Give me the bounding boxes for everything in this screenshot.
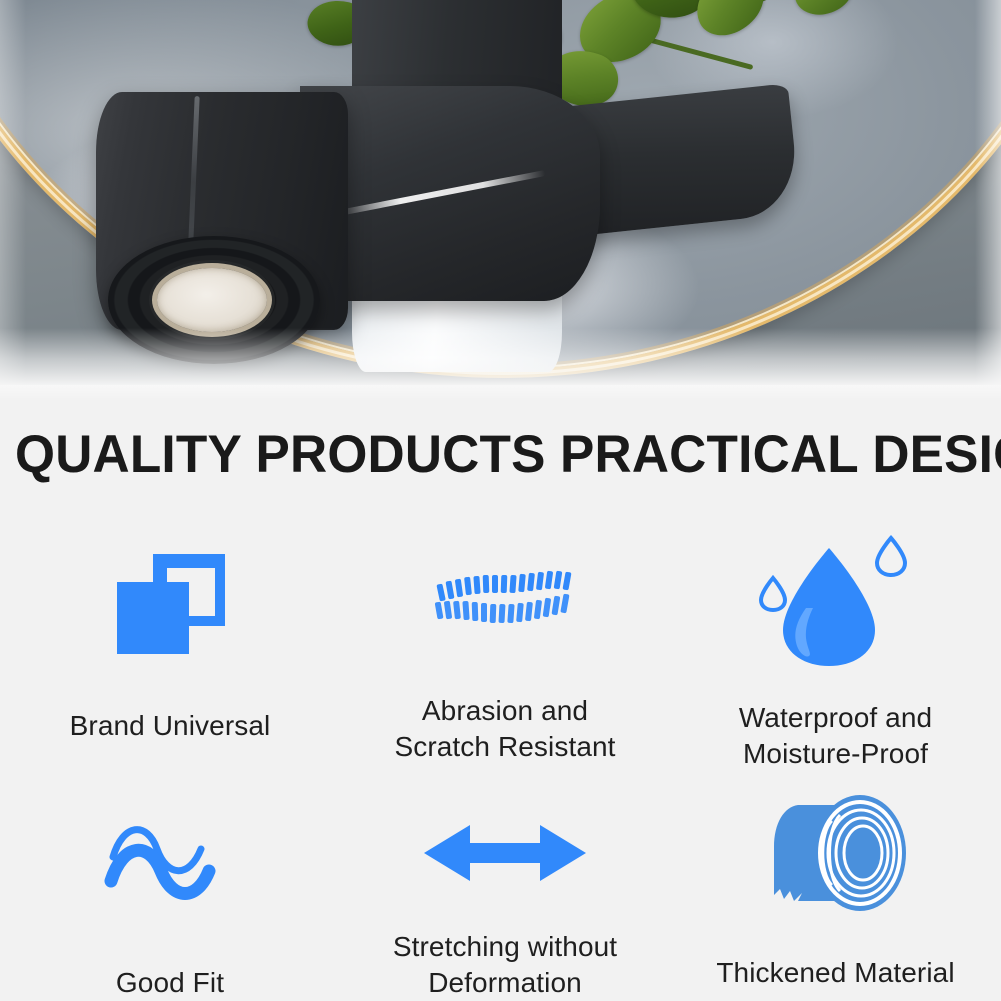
feature-brand-universal: Brand Universal	[0, 520, 340, 765]
feature-waterproof-moisture-proof: Waterproof and Moisture-Proof	[670, 520, 1001, 765]
feature-grid: Brand Universal	[0, 520, 1001, 1001]
water-droplet-icon	[751, 530, 921, 670]
feature-thickened-material: Thickened Material	[670, 765, 1001, 1001]
double-sine-wave-icon	[95, 809, 245, 919]
page-title: QUALITY PRODUCTS PRACTICAL DESIGN	[15, 424, 986, 485]
tape-roll-core	[157, 268, 267, 332]
feature-stretching-without-deformation: Stretching without Deformation	[340, 765, 670, 1001]
photo-bottom-fade	[0, 328, 1001, 400]
product-photo	[0, 0, 1001, 400]
tape-roll-icon	[756, 789, 916, 917]
double-headed-arrow-icon	[420, 815, 590, 891]
feature-abrasion-scratch-resistant: Abrasion and Scratch Resistant	[340, 520, 670, 765]
feature-label: Good Fit	[116, 965, 224, 1001]
feature-label: Waterproof and Moisture-Proof	[739, 700, 932, 772]
tire-track-scuff-icon	[430, 564, 580, 647]
feature-label: Abrasion and Scratch Resistant	[394, 693, 615, 765]
feature-label: Stretching without Deformation	[393, 929, 617, 1001]
feature-label: Thickened Material	[716, 955, 954, 991]
overlapping-squares-icon	[95, 548, 245, 670]
infographic-page: QUALITY PRODUCTS PRACTICAL DESIGN Brand …	[0, 0, 1001, 1001]
feature-label: Brand Universal	[70, 708, 271, 744]
feature-good-fit: Good Fit	[0, 765, 340, 1001]
